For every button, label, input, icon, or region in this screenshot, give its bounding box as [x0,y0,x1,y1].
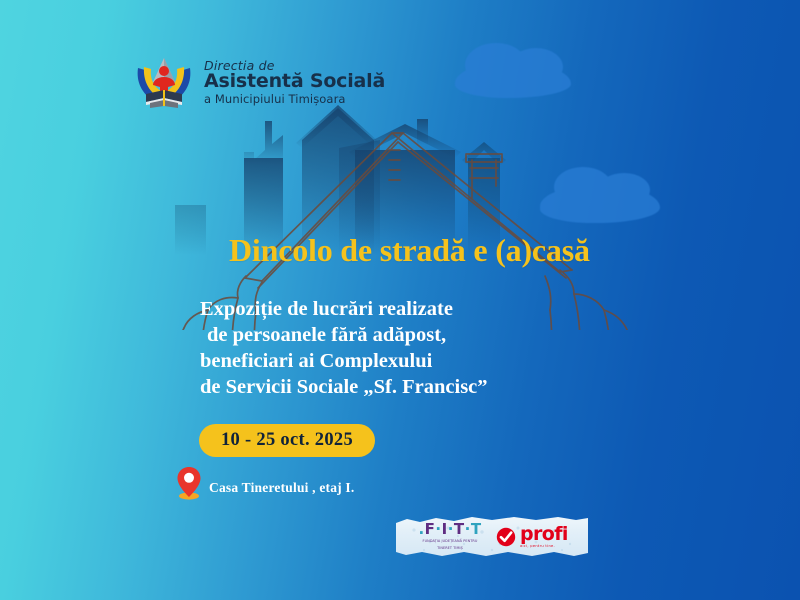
fitt-letter-f: F [425,520,436,538]
sponsor-logos: .F·I·T·T FUNDAȚIA JUDEȚEANĂ PENTRU TINER… [396,514,588,558]
profi-wordmark: profi [520,525,568,544]
fitt-logo: .F·I·T·T FUNDAȚIA JUDEȚEANĂ PENTRU TINER… [412,522,488,551]
location-pin-icon [176,466,202,500]
venue-label: Casa Tineretului , etaj I. [209,480,354,496]
fitt-wordmark: .F·I·T·T [412,522,488,537]
fitt-letter-t1: T [454,520,465,538]
poster-title: Dincolo de stradă e (a)casă [229,232,590,269]
subtitle-line-4: de Servicii Sociale „Sf. Francisc” [200,374,488,400]
logo-line-municipiu: a Municipiului Timișoara [204,93,385,105]
date-badge: 10 - 25 oct. 2025 [199,424,375,457]
fitt-tagline-line-1: FUNDAȚIA JUDEȚEANĂ PENTRU [412,539,488,544]
organization-logo-text: Directia de Asistentă Socială a Municipi… [204,59,385,105]
dast-logo-emblem-icon [132,52,196,112]
sponsor-tape-strip: .F·I·T·T FUNDAȚIA JUDEȚEANĂ PENTRU TINER… [396,514,588,558]
organization-logo: Directia de Asistentă Socială a Municipi… [132,52,385,112]
subtitle-line-2: de persoanele fără adăpost, [200,322,488,348]
poster-canvas: Directia de Asistentă Socială a Municipi… [0,0,800,600]
hands-holding-roof-line-art-icon [0,0,800,330]
profi-wordmark-block: profi aici, pentru tine. [520,525,568,549]
subtitle-line-3: beneficiari ai Complexului [200,348,488,374]
fitt-letter-t2: T [471,520,482,538]
cloud-shape-1 [455,62,571,98]
fitt-tagline-line-2: TINERET TIMIȘ [412,546,488,551]
cloud-shape-2 [540,185,660,223]
date-badge-label: 10 - 25 oct. 2025 [221,430,353,451]
poster-subtitle: Expoziție de lucrări realizate de persoa… [200,296,488,400]
profi-logo: profi aici, pentru tine. [496,525,568,549]
check-mark-icon [496,527,516,547]
logo-line-asistenta-sociala: Asistentă Socială [204,72,385,92]
profi-tagline: aici, pentru tine. [520,545,568,549]
subtitle-line-1: Expoziție de lucrări realizate [200,296,488,322]
venue-row: Casa Tineretului , etaj I. [176,466,354,500]
